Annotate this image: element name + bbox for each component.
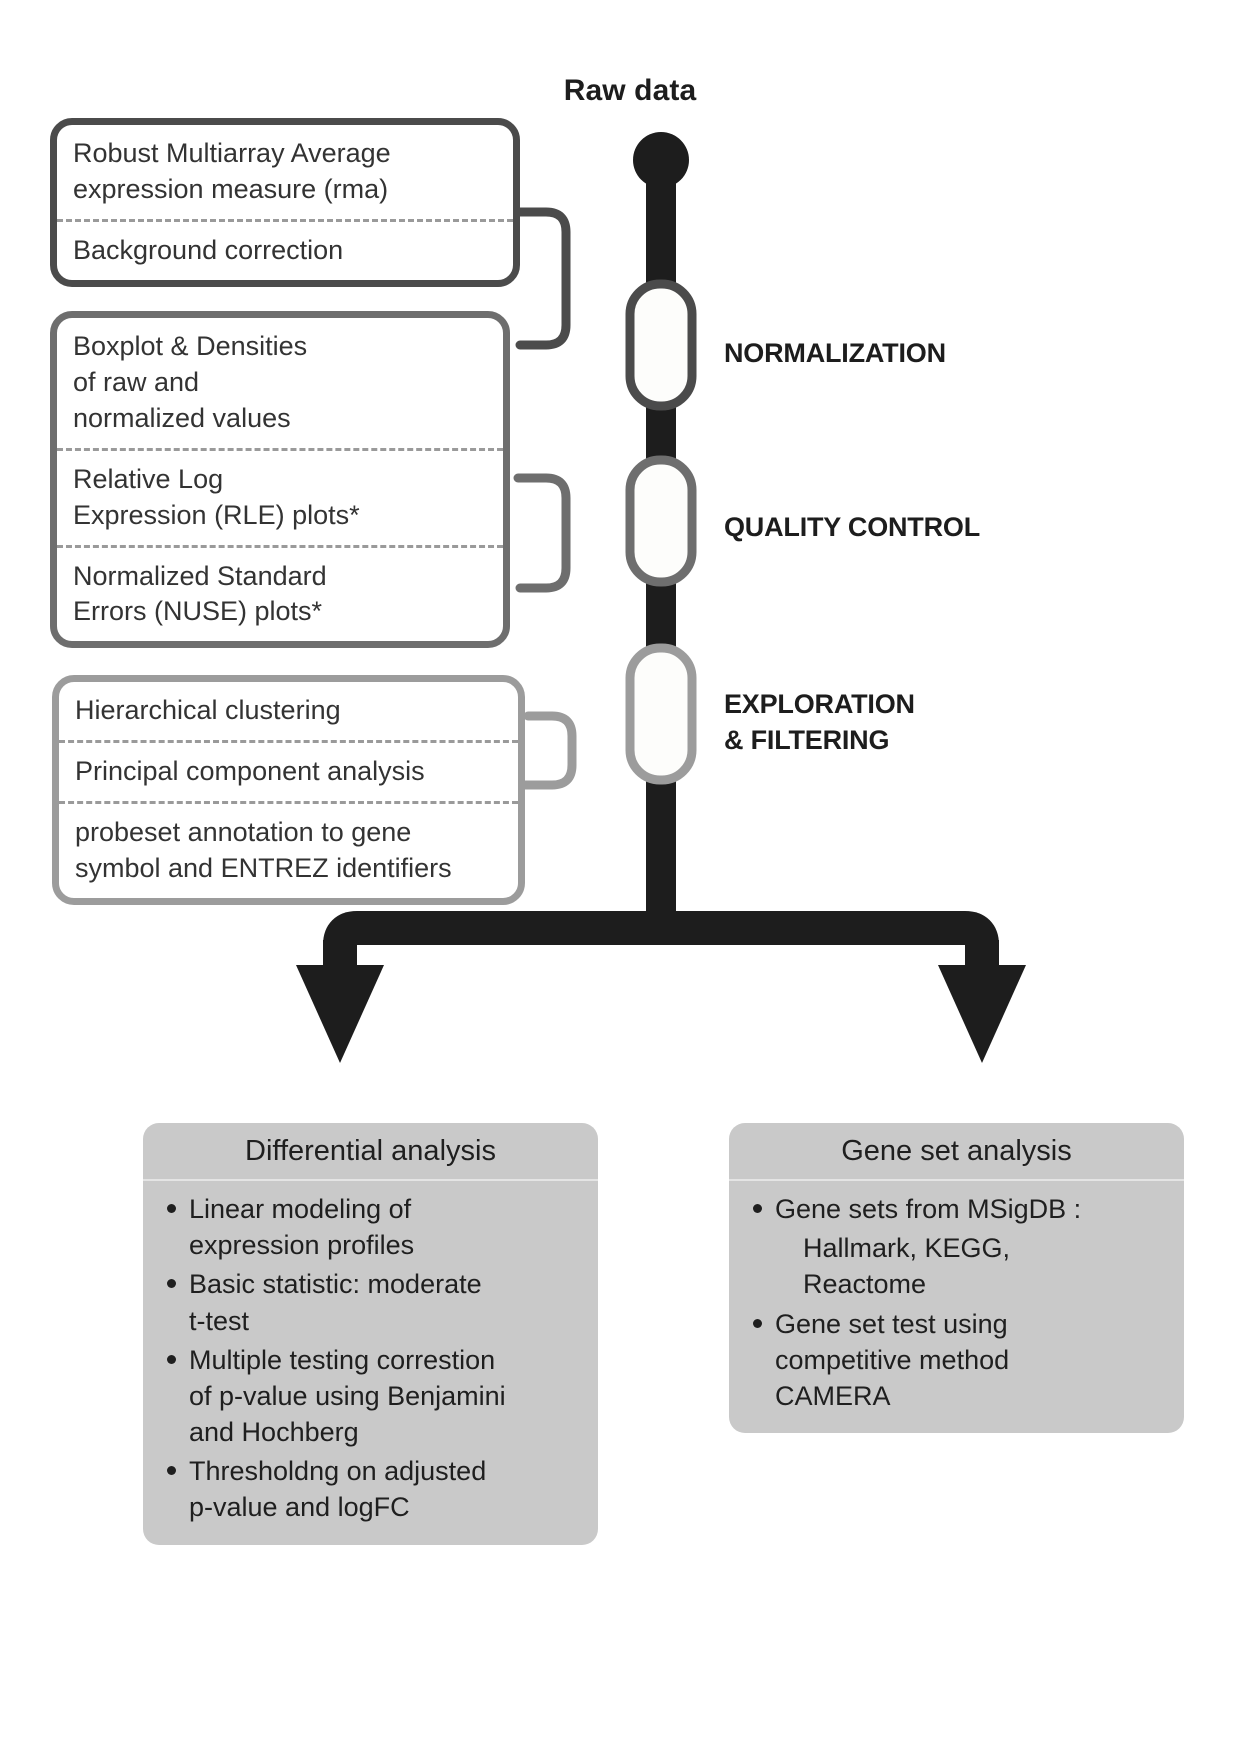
spine-segment-3 [646, 580, 676, 670]
capsule-exploration [630, 648, 692, 780]
stage-row-rma: Robust Multiarray Average expression mea… [57, 125, 513, 219]
stage-box-quality-control: Boxplot & Densities of raw and normalize… [50, 311, 510, 648]
list-item-continuation: Hallmark, KEGG, Reactome [747, 1230, 1170, 1302]
result-list-differential: Linear modeling of expression profiles B… [143, 1181, 598, 1545]
result-list-gene-set: Gene sets from MSigDB : Hallmark, KEGG, … [729, 1181, 1184, 1433]
stage-row-pca: Principal component analysis [59, 740, 518, 801]
stage-row-probeset-annotation: probeset annotation to gene symbol and E… [59, 801, 518, 898]
hook-exploration [524, 716, 572, 785]
left-branch-shaft [323, 940, 357, 985]
stage-row-hierarchical-clustering: Hierarchical clustering [59, 682, 518, 740]
result-card-title-gene-set: Gene set analysis [729, 1123, 1184, 1181]
list-item: Linear modeling of expression profiles [161, 1191, 584, 1263]
branch-stub [646, 900, 676, 932]
stage-label-exploration-filtering: EXPLORATION & FILTERING [724, 687, 915, 758]
list-item: Gene sets from MSigDB : [747, 1191, 1170, 1227]
result-card-gene-set-analysis: Gene set analysis Gene sets from MSigDB … [729, 1123, 1184, 1433]
hook-quality-control [518, 478, 566, 588]
result-card-title-differential: Differential analysis [143, 1123, 598, 1181]
list-item: Basic statistic: moderate t-test [161, 1266, 584, 1338]
list-item: Gene set test using competitive method C… [747, 1306, 1170, 1415]
hook-normalization [518, 212, 566, 345]
stage-label-normalization: NORMALIZATION [724, 336, 946, 372]
list-item: Multiple testing correstion of p-value u… [161, 1342, 584, 1451]
left-branch-arrowhead [296, 965, 384, 1063]
branch-bar [328, 912, 994, 928]
spine-segment-1 [646, 160, 676, 300]
capsule-quality-control [630, 460, 692, 582]
list-item: Thresholdng on adjusted p-value and logF… [161, 1453, 584, 1525]
spine-segment-2 [646, 390, 676, 480]
stage-label-quality-control: QUALITY CONTROL [724, 510, 980, 546]
stage-row-boxplot-densities: Boxplot & Densities of raw and normalize… [57, 318, 503, 448]
raw-data-start-dot [633, 132, 689, 188]
branch-horizontal-bar [340, 928, 982, 945]
stage-box-normalization: Robust Multiarray Average expression mea… [50, 118, 520, 287]
right-branch-shaft [965, 940, 999, 985]
branch-connector [646, 880, 898, 956]
workflow-diagram: Raw data Robust Multiarray Average expre… [0, 0, 1240, 1753]
raw-data-title: Raw data [500, 74, 760, 108]
stage-box-exploration-filtering: Hierarchical clustering Principal compon… [52, 675, 525, 905]
capsule-normalization [630, 284, 692, 406]
stage-row-rle-plots: Relative Log Expression (RLE) plots* [57, 448, 503, 545]
stage-row-nuse-plots: Normalized Standard Errors (NUSE) plots* [57, 545, 503, 642]
right-branch-arrowhead [938, 965, 1026, 1063]
spine-segment-4 [646, 770, 676, 920]
result-card-differential-analysis: Differential analysis Linear modeling of… [143, 1123, 598, 1545]
stage-row-background-correction: Background correction [57, 219, 513, 280]
